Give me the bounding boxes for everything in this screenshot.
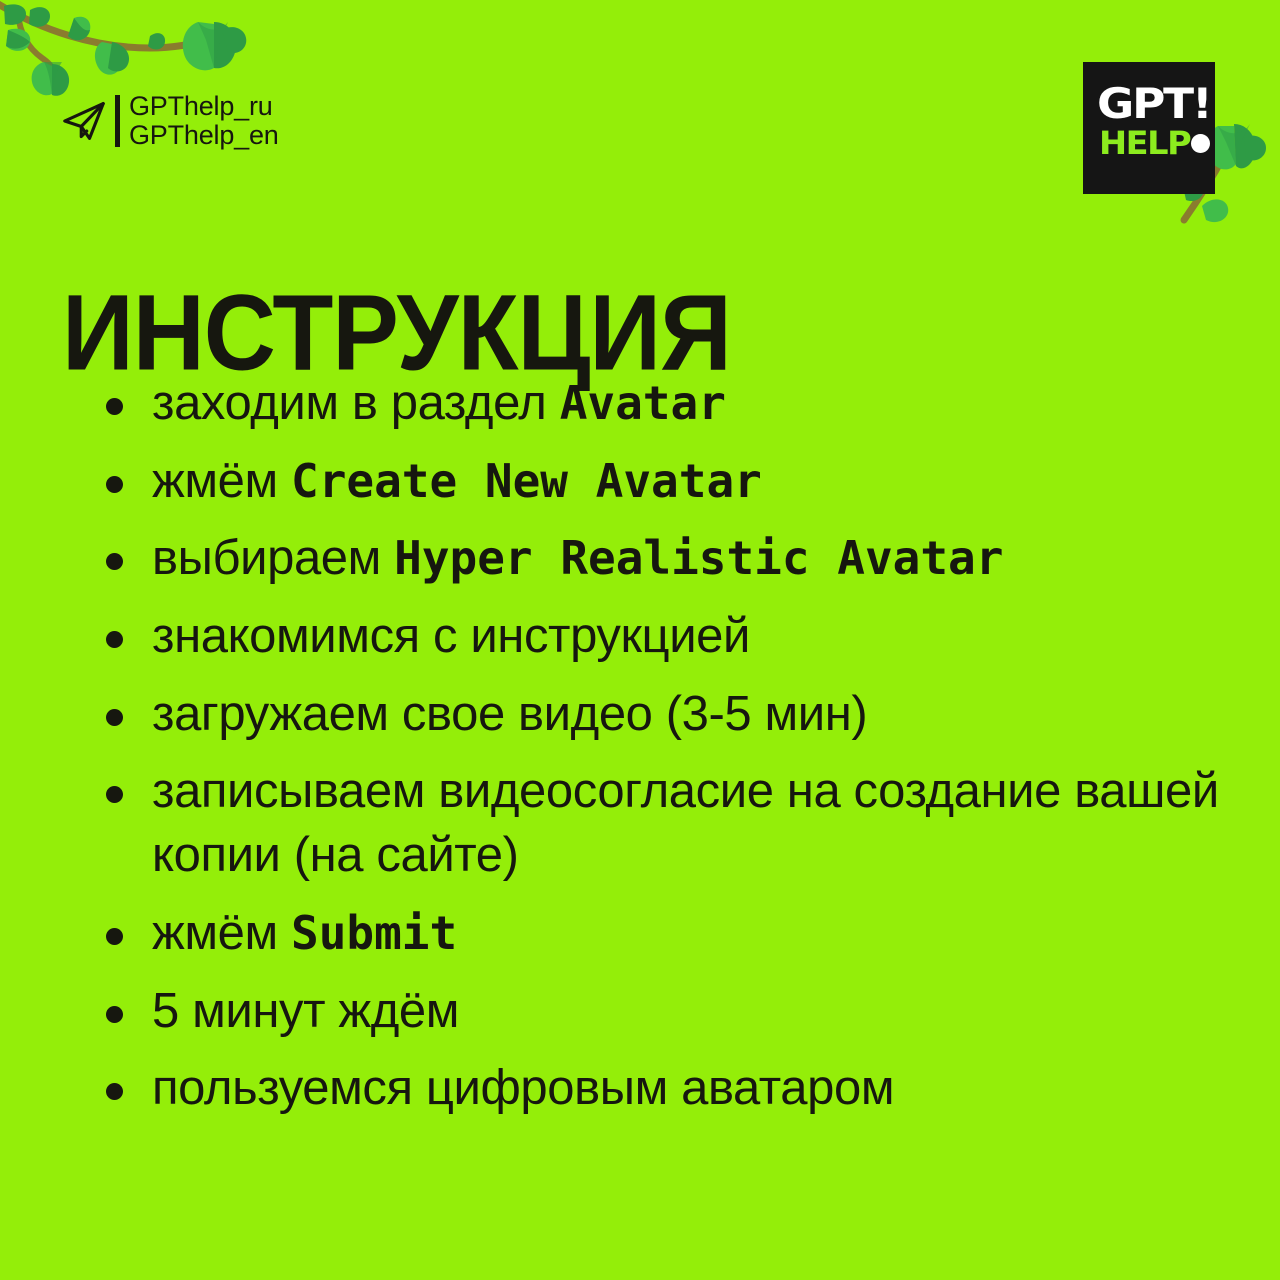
instruction-step-plain: выбираем [152, 531, 394, 585]
instruction-step: 5 минут ждём [96, 980, 1246, 1044]
instruction-step-keyword: Hyper Realistic Avatar [394, 531, 1003, 585]
telegram-handle-list: GPThelp_ru GPThelp_en [129, 92, 279, 150]
brand-logo-line1: GPT! [1097, 83, 1210, 125]
telegram-plane-icon[interactable] [62, 99, 106, 143]
brand-logo-line2: HELP [1099, 127, 1190, 159]
instruction-step-text: выбираем Hyper Realistic Avatar [152, 531, 1003, 585]
bullet-dot-icon [106, 1006, 123, 1023]
instruction-step: пользуемся цифровым аватаром [96, 1057, 1246, 1121]
header: GPThelp_ru GPThelp_en GPT! HELP [0, 0, 1280, 210]
instruction-step-plain: заходим в раздел [152, 376, 560, 430]
instruction-step-plain: жмём [152, 454, 291, 508]
bullet-dot-icon [106, 398, 123, 415]
instruction-step-list: заходим в раздел Avatarжмём Create New A… [96, 372, 1246, 1121]
instruction-step: выбираем Hyper Realistic Avatar [96, 527, 1246, 591]
telegram-handles-block[interactable]: GPThelp_ru GPThelp_en [62, 92, 279, 150]
instruction-step-text: жмём Create New Avatar [152, 454, 762, 508]
instruction-step-keyword: Submit [291, 906, 457, 960]
bullet-dot-icon [106, 1083, 123, 1100]
instruction-step-plain: знакомимся с инструкцией [152, 609, 750, 663]
instruction-step-plain: пользуемся цифровым аватаром [152, 1061, 894, 1115]
instruction-step-text: знакомимся с инструкцией [152, 609, 750, 663]
brand-logo-dot-icon [1191, 134, 1210, 153]
bullet-dot-icon [106, 786, 123, 803]
telegram-handle-en[interactable]: GPThelp_en [129, 121, 279, 150]
telegram-divider [115, 95, 120, 147]
instruction-step-text: заходим в раздел Avatar [152, 376, 726, 430]
instruction-step-text: жмём Submit [152, 906, 457, 960]
instruction-step-keyword: Create New Avatar [291, 454, 762, 508]
instruction-step: заходим в раздел Avatar [96, 372, 1246, 436]
telegram-handle-ru[interactable]: GPThelp_ru [129, 92, 279, 121]
bullet-dot-icon [106, 709, 123, 726]
bullet-dot-icon [106, 631, 123, 648]
instruction-step-text: загружаем свое видео (3-5 мин) [152, 687, 867, 741]
instruction-step: жмём Submit [96, 902, 1246, 966]
brand-logo[interactable]: GPT! HELP [1083, 62, 1215, 194]
bullet-dot-icon [106, 553, 123, 570]
instruction-step-text: пользуемся цифровым аватаром [152, 1061, 894, 1115]
instruction-step-plain: 5 минут ждём [152, 984, 459, 1038]
instruction-step-plain: жмём [152, 906, 291, 960]
instruction-step-keyword: Avatar [560, 376, 726, 430]
instruction-step: записываем видеосогласие на создание ваш… [96, 760, 1246, 887]
instruction-step-plain: записываем видеосогласие на создание ваш… [152, 764, 1219, 882]
brand-logo-line2-row: HELP [1099, 127, 1210, 159]
instruction-step-text: 5 минут ждём [152, 984, 459, 1038]
bullet-dot-icon [106, 928, 123, 945]
instruction-step-plain: загружаем свое видео (3-5 мин) [152, 687, 867, 741]
bullet-dot-icon [106, 476, 123, 493]
instruction-step-text: записываем видеосогласие на создание ваш… [152, 764, 1219, 882]
instruction-step: жмём Create New Avatar [96, 450, 1246, 514]
instruction-step: знакомимся с инструкцией [96, 605, 1246, 669]
instruction-step: загружаем свое видео (3-5 мин) [96, 683, 1246, 747]
